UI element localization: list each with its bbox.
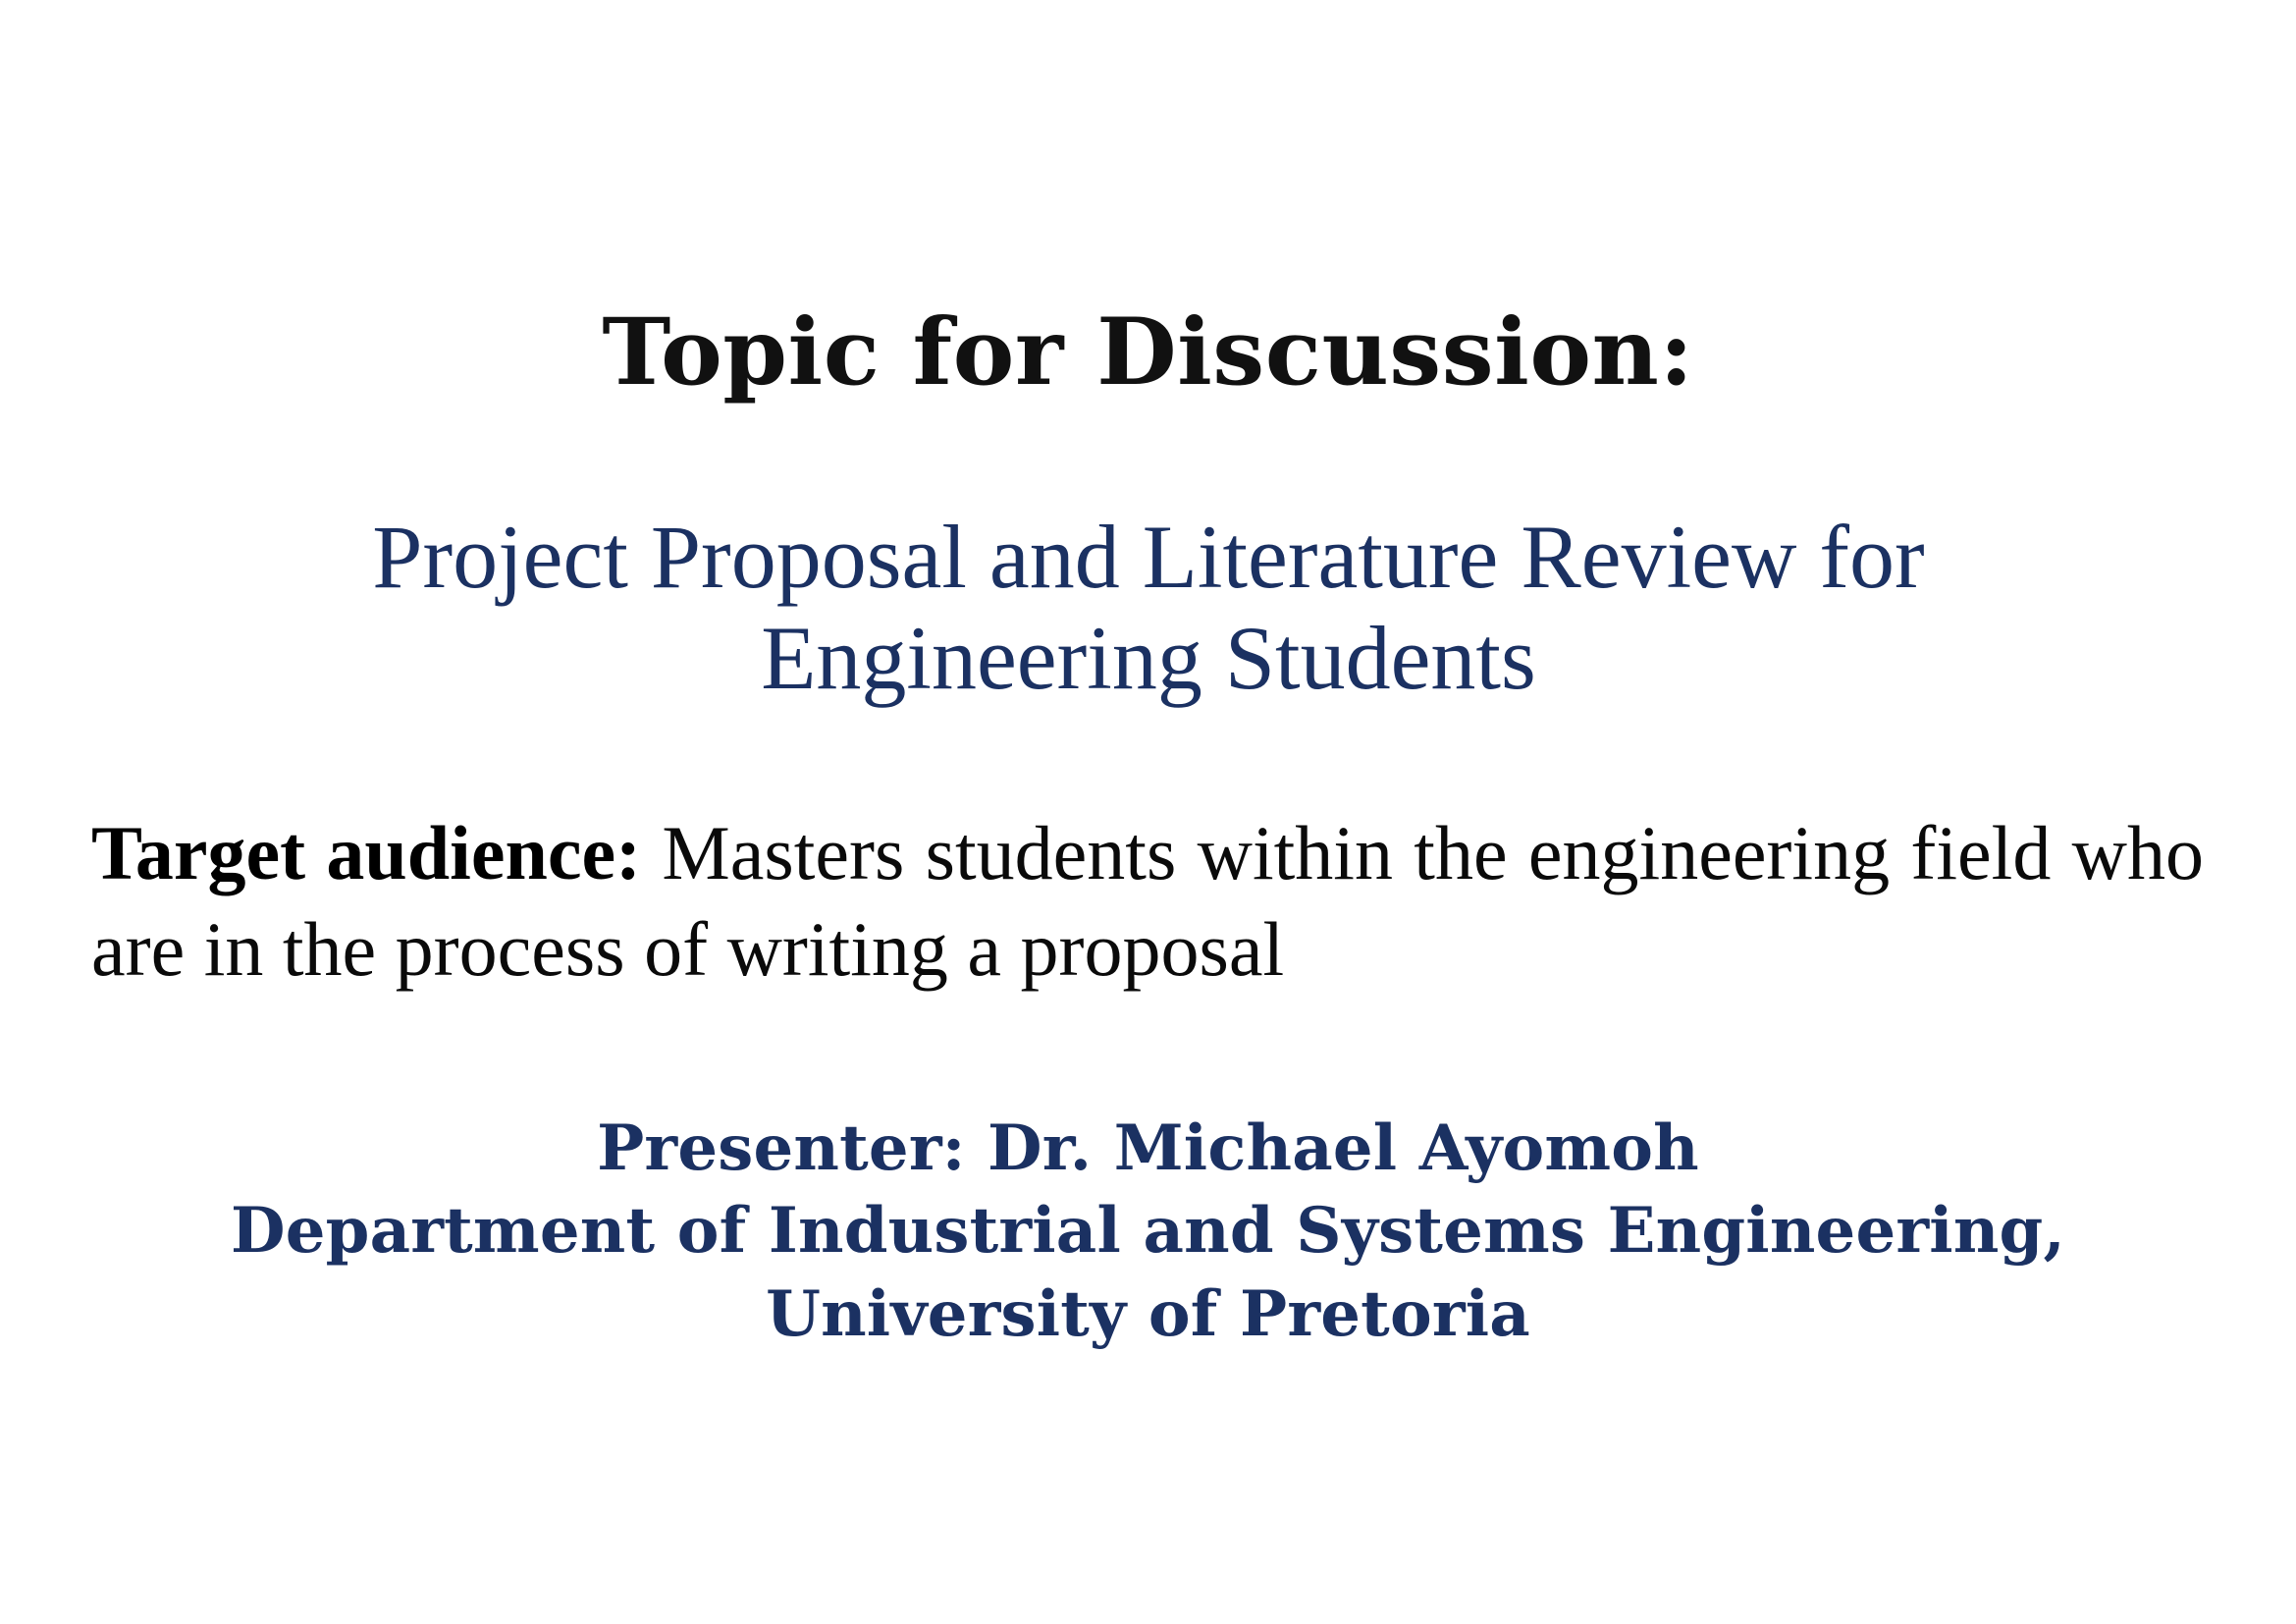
target-audience-label: Target audience: [91, 810, 641, 895]
presentation-slide: Topic for Discussion: Project Proposal a… [0, 0, 2296, 1624]
presenter-institution-line: University of Pretoria [0, 1273, 2296, 1356]
presenter-department-line: Department of Industrial and Systems Eng… [0, 1190, 2296, 1272]
page-title: Topic for Discussion: [0, 303, 2296, 404]
presenter-block: Presenter: Dr. Michael Ayomoh Department… [0, 1108, 2296, 1356]
target-audience-paragraph: Target audience: Masters students within… [91, 805, 2204, 999]
slide-subtitle: Project Proposal and Literature Review f… [167, 507, 2130, 709]
presenter-name-line: Presenter: Dr. Michael Ayomoh [0, 1108, 2296, 1190]
